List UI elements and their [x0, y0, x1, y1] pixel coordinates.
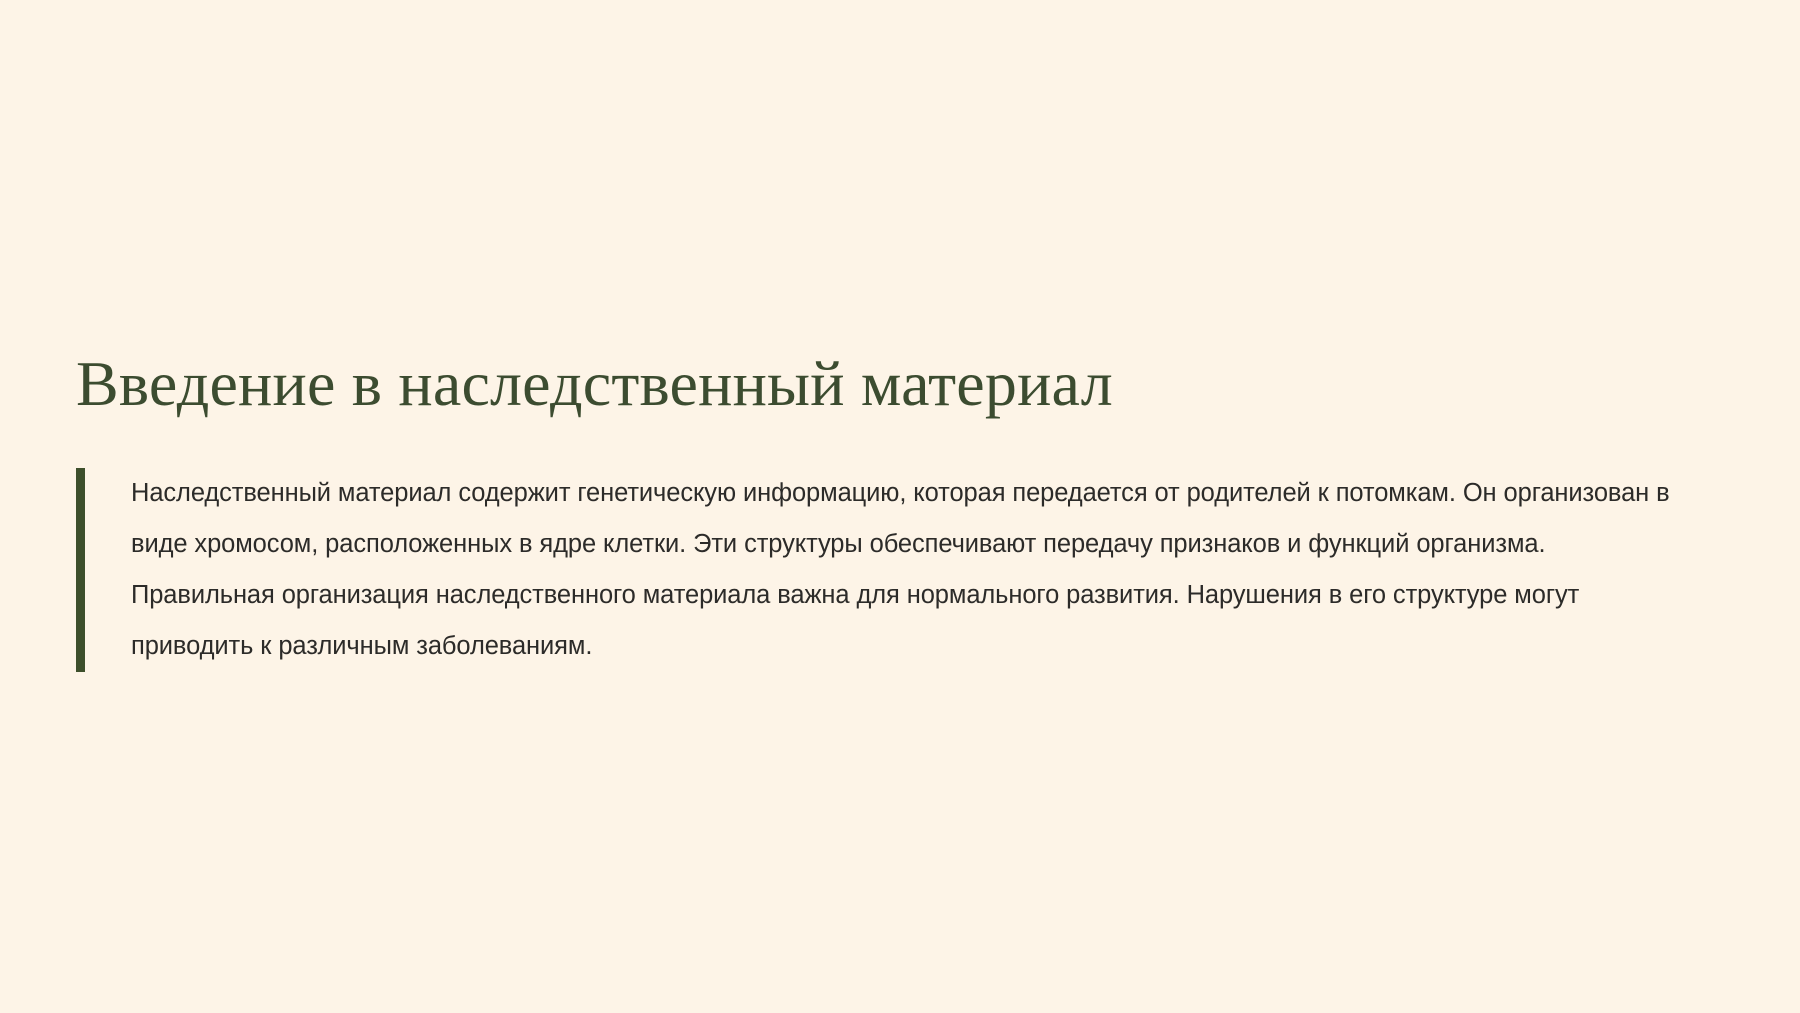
slide-canvas: Введение в наследственный материал Насле…: [0, 0, 1800, 1013]
body-quote-block: Наследственный материал содержит генетич…: [76, 468, 1716, 672]
accent-bar: [76, 468, 85, 672]
body-paragraph: Наследственный материал содержит генетич…: [85, 468, 1676, 672]
page-title: Введение в наследственный материал: [76, 347, 1716, 421]
